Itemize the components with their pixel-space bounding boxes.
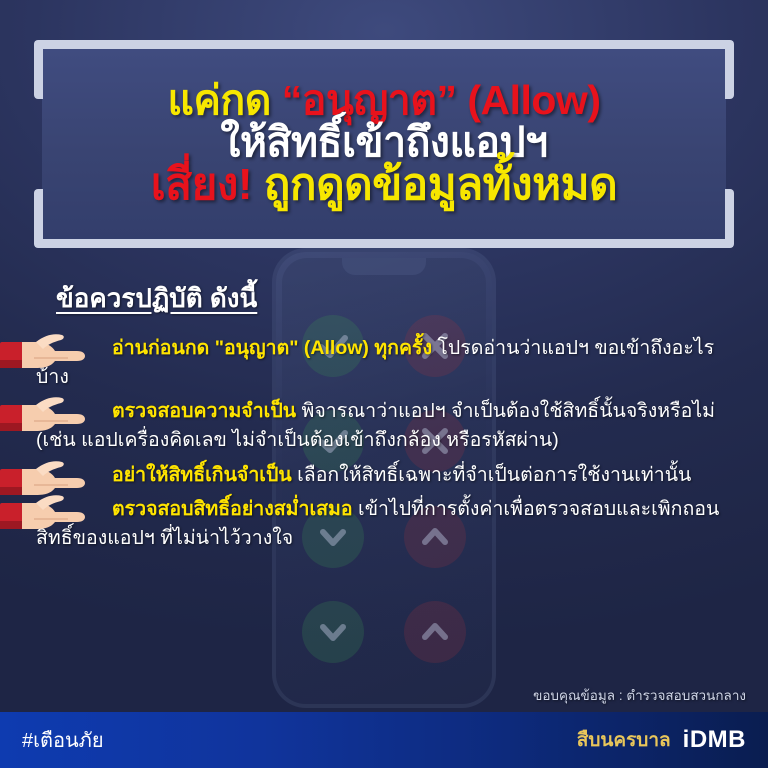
list-item: อ่านก่อนกด "อนุญาต" (Allow) ทุกครั้ง โปร… (22, 334, 748, 391)
brand-lockup: สืบนครบาล iDMB (577, 725, 746, 755)
list-item: อย่าให้สิทธิ์เกินจำเป็น เลือกให้สิทธิ์เฉ… (22, 461, 748, 490)
headline-line-2: ให้สิทธิ์เข้าถึงแอปฯ (220, 122, 547, 164)
headline-line-1-red: “อนุญาต” (Allow) (282, 77, 601, 123)
headline-line-3-yellow: ถูกดูดข้อมูลทั้งหมด (264, 160, 617, 209)
phone-notch (342, 258, 426, 275)
tip-keyword: ตรวจสอบความจำเป็น (112, 400, 296, 422)
brand-thai-label: สืบนครบาล (577, 725, 671, 755)
headline-line-1-yellow: แค่กด (168, 77, 282, 123)
tip-text: ตรวจสอบสิทธิ์อย่างสม่ำเสมอ เข้าไปที่การต… (22, 495, 748, 552)
tip-text: ตรวจสอบความจำเป็น พิจารณาว่าแอปฯ จำเป็นต… (22, 397, 748, 454)
headline-line-3-red: เสี่ยง! (151, 160, 264, 209)
list-item: ตรวจสอบความจำเป็น พิจารณาว่าแอปฯ จำเป็นต… (22, 397, 748, 454)
pointing-hand-icon (0, 391, 96, 443)
brand-logo-idmb: iDMB (683, 726, 746, 754)
pointing-hand-icon (0, 328, 96, 380)
source-credit: ขอบคุณข้อมูล : ตำรวจสอบสวนกลาง (533, 684, 746, 706)
tip-keyword: ตรวจสอบสิทธิ์อย่างสม่ำเสมอ (112, 498, 353, 520)
headline-line-1: แค่กด “อนุญาต” (Allow) (168, 80, 601, 122)
section-subtitle: ข้อควรปฏิบัติ ดังนี้ (56, 278, 257, 319)
chevron-up-icon (404, 601, 466, 663)
hashtag-label: #เตือนภัย (22, 724, 104, 756)
chevron-down-icon (302, 601, 364, 663)
headline-banner: แค่กด “อนุญาต” (Allow) ให้สิทธิ์เข้าถึงแ… (34, 40, 734, 248)
tip-text: อย่าให้สิทธิ์เกินจำเป็น เลือกให้สิทธิ์เฉ… (22, 461, 748, 490)
tip-text: อ่านก่อนกด "อนุญาต" (Allow) ทุกครั้ง โปร… (22, 334, 748, 391)
infographic-poster: แค่กด “อนุญาต” (Allow) ให้สิทธิ์เข้าถึงแ… (0, 0, 768, 768)
footer-bar: #เตือนภัย สืบนครบาล iDMB (0, 712, 768, 768)
pointing-hand-icon (0, 489, 96, 541)
tips-list: อ่านก่อนกด "อนุญาต" (Allow) ทุกครั้ง โปร… (22, 334, 748, 559)
tip-body: เลือกให้สิทธิ์เฉพาะที่จำเป็นต่อการใช้งาน… (292, 464, 692, 486)
headline-line-3: เสี่ยง! ถูกดูดข้อมูลทั้งหมด (151, 163, 618, 208)
headline-text: แค่กด “อนุญาต” (Allow) ให้สิทธิ์เข้าถึงแ… (34, 40, 734, 248)
list-item: ตรวจสอบสิทธิ์อย่างสม่ำเสมอ เข้าไปที่การต… (22, 495, 748, 552)
tip-keyword: อย่าให้สิทธิ์เกินจำเป็น (112, 464, 292, 486)
tip-keyword: อ่านก่อนกด "อนุญาต" (Allow) ทุกครั้ง (112, 337, 432, 359)
